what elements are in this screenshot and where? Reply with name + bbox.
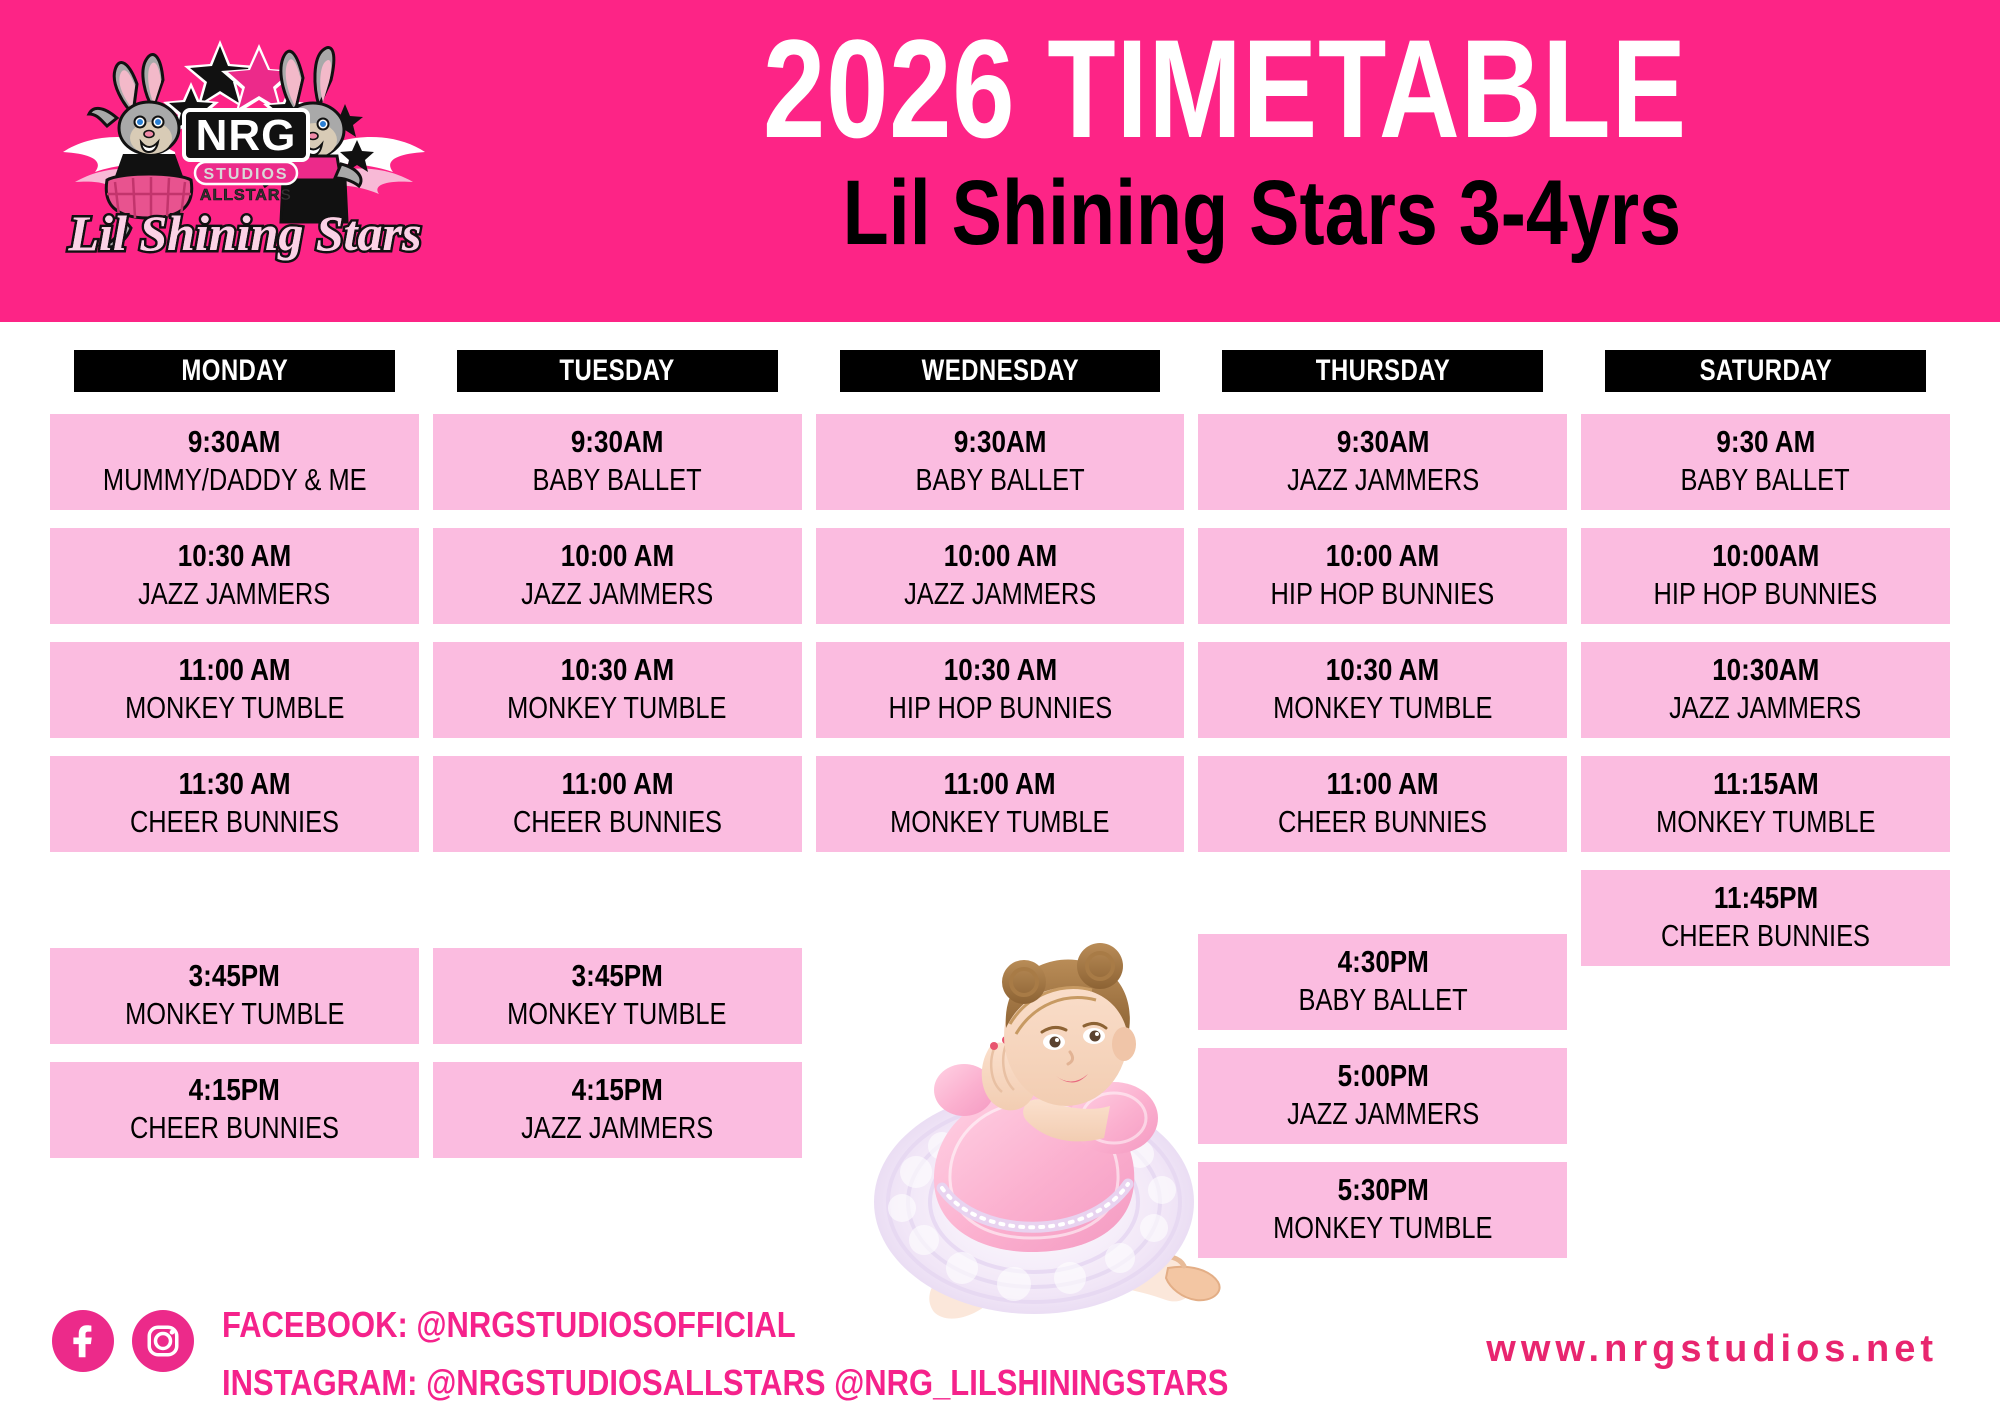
slot-class-name: HIP HOP BUNNIES	[1654, 576, 1878, 613]
title-block: 2026 TIMETABLE Lil Shining Stars 3-4yrs	[500, 18, 1950, 261]
website-url[interactable]: www.nrgstudios.net	[1486, 1328, 1938, 1371]
slot-class-name: CHEER BUNNIES	[513, 804, 722, 841]
day-header-wednesday: WEDNESDAY	[840, 350, 1161, 392]
slot-time: 10:00AM	[1712, 539, 1819, 574]
slot-time: 11:45PM	[1713, 881, 1817, 916]
slot-class-name: MONKEY TUMBLE	[890, 804, 1109, 841]
slot-time: 11:00 AM	[1327, 767, 1439, 802]
slot-class-name: MONKEY TUMBLE	[507, 690, 726, 727]
class-slot[interactable]: 10:00AMHIP HOP BUNNIES	[1581, 528, 1950, 624]
day-label: MONDAY	[181, 354, 288, 388]
day-header-saturday: SATURDAY	[1605, 350, 1926, 392]
svg-text:ALLSTARS: ALLSTARS	[200, 187, 292, 204]
slot-time: 3:45PM	[189, 959, 280, 994]
nrg-lil-shining-stars-logo: NRG STUDIOS ALLSTARS Lil Shining Stars L…	[45, 22, 445, 277]
slot-class-name: MUMMY/DADDY & ME	[103, 462, 367, 499]
day-column-thursday: THURSDAY9:30AMJAZZ JAMMERS10:00 AMHIP HO…	[1198, 350, 1567, 1282]
class-slot[interactable]: 9:30AMBABY BALLET	[816, 414, 1185, 510]
day-column-tuesday: TUESDAY9:30AMBABY BALLET10:00 AMJAZZ JAM…	[433, 350, 802, 1282]
slot-time: 11:00 AM	[178, 653, 290, 688]
class-slot[interactable]: 4:30PMBABY BALLET	[1198, 934, 1567, 1030]
class-slot[interactable]: 11:00 AMCHEER BUNNIES	[433, 756, 802, 852]
class-slot[interactable]: 9:30AMBABY BALLET	[433, 414, 802, 510]
instagram-handle: INSTAGRAM: @NRGSTUDIOSALLSTARS @NRG_LILS…	[222, 1354, 1228, 1412]
day-header-thursday: THURSDAY	[1222, 350, 1543, 392]
class-slot[interactable]: 9:30AMJAZZ JAMMERS	[1198, 414, 1567, 510]
logo-graphic: NRG STUDIOS ALLSTARS Lil Shining Stars L…	[45, 22, 445, 277]
class-slot[interactable]: 5:00PMJAZZ JAMMERS	[1198, 1048, 1567, 1144]
class-slot[interactable]: 10:30 AMMONKEY TUMBLE	[1198, 642, 1567, 738]
class-slot[interactable]: 10:30 AMHIP HOP BUNNIES	[816, 642, 1185, 738]
slot-time: 10:30 AM	[178, 539, 291, 574]
slot-class-name: MONKEY TUMBLE	[507, 996, 726, 1033]
slot-time: 10:30AM	[1712, 653, 1819, 688]
slot-class-name: HIP HOP BUNNIES	[1271, 576, 1495, 613]
day-column-wednesday: WEDNESDAY9:30AMBABY BALLET10:00 AMJAZZ J…	[816, 350, 1185, 1282]
class-slot[interactable]: 11:00 AMMONKEY TUMBLE	[816, 756, 1185, 852]
slot-time: 9:30 AM	[1716, 425, 1815, 460]
slot-class-name: MONKEY TUMBLE	[125, 690, 344, 727]
slot-class-name: MONKEY TUMBLE	[1273, 1210, 1492, 1247]
timetable-grid: MONDAY9:30AMMUMMY/DADDY & ME10:30 AMJAZZ…	[0, 322, 2000, 1282]
slot-class-name: MONKEY TUMBLE	[1273, 690, 1492, 727]
slot-class-name: JAZZ JAMMERS	[904, 576, 1096, 613]
class-slot[interactable]: 9:30AMMUMMY/DADDY & ME	[50, 414, 419, 510]
slot-time: 11:00 AM	[561, 767, 673, 802]
class-slot[interactable]: 3:45PMMONKEY TUMBLE	[50, 948, 419, 1044]
slot-class-name: JAZZ JAMMERS	[138, 576, 330, 613]
slot-time: 4:15PM	[572, 1073, 663, 1108]
class-slot[interactable]: 4:15PMJAZZ JAMMERS	[433, 1062, 802, 1158]
page-title: 2026 TIMETABLE	[645, 18, 1805, 161]
day-label: WEDNESDAY	[921, 354, 1078, 388]
slot-time: 9:30AM	[1336, 425, 1429, 460]
slot-time: 9:30AM	[571, 425, 664, 460]
slot-class-name: CHEER BUNNIES	[130, 1110, 339, 1147]
slot-class-name: JAZZ JAMMERS	[1287, 462, 1479, 499]
page-subtitle: Lil Shining Stars 3-4yrs	[631, 165, 1820, 262]
timetable-poster: NRG STUDIOS ALLSTARS Lil Shining Stars L…	[0, 0, 2000, 1414]
class-slot[interactable]: 11:00 AMCHEER BUNNIES	[1198, 756, 1567, 852]
instagram-icon[interactable]	[132, 1310, 194, 1372]
slot-time: 9:30AM	[188, 425, 281, 460]
class-slot[interactable]: 11:00 AMMONKEY TUMBLE	[50, 642, 419, 738]
slot-class-name: BABY BALLET	[533, 462, 702, 499]
slot-class-name: JAZZ JAMMERS	[1287, 1096, 1479, 1133]
day-label: TUESDAY	[560, 354, 675, 388]
class-slot[interactable]: 4:15PMCHEER BUNNIES	[50, 1062, 419, 1158]
svg-text:NRG: NRG	[196, 111, 297, 160]
poster-footer: FACEBOOK: @NRGSTUDIOSOFFICIAL INSTAGRAM:…	[0, 1284, 2000, 1414]
slot-time: 10:30 AM	[943, 653, 1056, 688]
slot-time: 11:15AM	[1713, 767, 1819, 802]
slot-time: 4:30PM	[1337, 945, 1428, 980]
slot-time: 5:30PM	[1337, 1173, 1428, 1208]
slot-time: 10:00 AM	[561, 539, 674, 574]
slot-class-name: MONKEY TUMBLE	[1656, 804, 1875, 841]
class-slot[interactable]: 10:00 AMJAZZ JAMMERS	[433, 528, 802, 624]
class-slot[interactable]: 3:45PMMONKEY TUMBLE	[433, 948, 802, 1044]
slot-time: 11:30 AM	[178, 767, 290, 802]
slot-time: 3:45PM	[572, 959, 663, 994]
slot-time: 9:30AM	[954, 425, 1047, 460]
class-slot[interactable]: 11:45PMCHEER BUNNIES	[1581, 870, 1950, 966]
slot-time: 10:00 AM	[943, 539, 1056, 574]
class-slot[interactable]: 5:30PMMONKEY TUMBLE	[1198, 1162, 1567, 1258]
day-column-saturday: SATURDAY9:30 AMBABY BALLET10:00AMHIP HOP…	[1581, 350, 1950, 1282]
class-slot[interactable]: 10:00 AMJAZZ JAMMERS	[816, 528, 1185, 624]
slot-class-name: JAZZ JAMMERS	[521, 576, 713, 613]
schedule-break-spacer	[50, 870, 419, 948]
facebook-icon[interactable]	[52, 1310, 114, 1372]
slot-class-name: MONKEY TUMBLE	[125, 996, 344, 1033]
class-slot[interactable]: 10:30AMJAZZ JAMMERS	[1581, 642, 1950, 738]
slot-class-name: CHEER BUNNIES	[1278, 804, 1487, 841]
svg-text:Lil Shining Stars: Lil Shining Stars	[68, 205, 422, 261]
class-slot[interactable]: 10:30 AMMONKEY TUMBLE	[433, 642, 802, 738]
svg-text:STUDIOS: STUDIOS	[203, 166, 288, 183]
slot-time: 10:30 AM	[1326, 653, 1439, 688]
class-slot[interactable]: 10:30 AMJAZZ JAMMERS	[50, 528, 419, 624]
day-column-monday: MONDAY9:30AMMUMMY/DADDY & ME10:30 AMJAZZ…	[50, 350, 419, 1282]
facebook-handle: FACEBOOK: @NRGSTUDIOSOFFICIAL	[222, 1296, 1228, 1354]
schedule-break-spacer	[433, 870, 802, 948]
slot-class-name: HIP HOP BUNNIES	[888, 690, 1112, 727]
slot-class-name: JAZZ JAMMERS	[1670, 690, 1862, 727]
slot-time: 4:15PM	[189, 1073, 280, 1108]
day-label: THURSDAY	[1316, 354, 1450, 388]
slot-class-name: CHEER BUNNIES	[1661, 918, 1870, 955]
slot-class-name: BABY BALLET	[915, 462, 1084, 499]
social-handles: FACEBOOK: @NRGSTUDIOSOFFICIAL INSTAGRAM:…	[222, 1296, 1392, 1413]
class-slot[interactable]: 11:30 AMCHEER BUNNIES	[50, 756, 419, 852]
slot-time: 11:00 AM	[944, 767, 1056, 802]
class-slot[interactable]: 11:15AMMONKEY TUMBLE	[1581, 756, 1950, 852]
social-icons	[52, 1310, 194, 1372]
class-slot[interactable]: 9:30 AMBABY BALLET	[1581, 414, 1950, 510]
poster-header: NRG STUDIOS ALLSTARS Lil Shining Stars L…	[0, 0, 2000, 322]
schedule-break-spacer	[1198, 870, 1567, 934]
day-header-tuesday: TUESDAY	[457, 350, 778, 392]
day-header-monday: MONDAY	[74, 350, 395, 392]
slot-class-name: JAZZ JAMMERS	[521, 1110, 713, 1147]
slot-time: 5:00PM	[1337, 1059, 1428, 1094]
slot-class-name: CHEER BUNNIES	[130, 804, 339, 841]
slot-time: 10:30 AM	[561, 653, 674, 688]
slot-class-name: BABY BALLET	[1298, 982, 1467, 1019]
class-slot[interactable]: 10:00 AMHIP HOP BUNNIES	[1198, 528, 1567, 624]
slot-class-name: BABY BALLET	[1681, 462, 1850, 499]
day-label: SATURDAY	[1699, 354, 1832, 388]
slot-time: 10:00 AM	[1326, 539, 1439, 574]
